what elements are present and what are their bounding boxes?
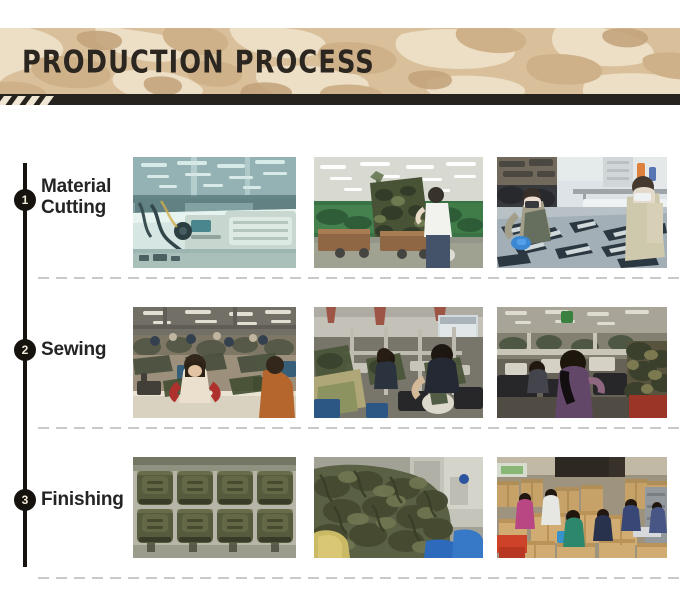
photo-sewing-line[interactable]: [497, 307, 667, 418]
photo-sewing-floor[interactable]: [133, 307, 296, 418]
banner-bottom-stripe: [0, 94, 680, 105]
step-number-3: 3: [22, 494, 29, 506]
page-title: PRODUCTION PROCESS: [22, 44, 375, 80]
step-marker-2: 2: [14, 339, 36, 361]
step-label-sewing: Sewing: [41, 339, 106, 360]
step-number-1: 1: [22, 194, 29, 206]
photo-weaving-looms[interactable]: [133, 157, 296, 268]
step-label-material-cutting: Material Cutting: [41, 176, 111, 219]
row-separator-3: [38, 577, 680, 579]
step-marker-1: 1: [14, 189, 36, 211]
photo-packing-area[interactable]: [497, 457, 667, 558]
step-marker-3: 3: [14, 489, 36, 511]
row-separator-1: [38, 277, 680, 279]
step-number-2: 2: [22, 344, 29, 356]
photo-fabric-inspection[interactable]: [314, 157, 483, 268]
hazard-stripes-icon: [0, 94, 72, 105]
photo-sewing-machines[interactable]: [314, 307, 483, 418]
step-label-finishing: Finishing: [41, 489, 124, 510]
photo-cutting-room[interactable]: [497, 157, 667, 268]
header-banner: PRODUCTION PROCESS: [0, 28, 680, 98]
photo-finished-backpacks[interactable]: [133, 457, 296, 558]
row-separator-2: [38, 427, 680, 429]
photo-bag-stockpile[interactable]: [314, 457, 483, 558]
